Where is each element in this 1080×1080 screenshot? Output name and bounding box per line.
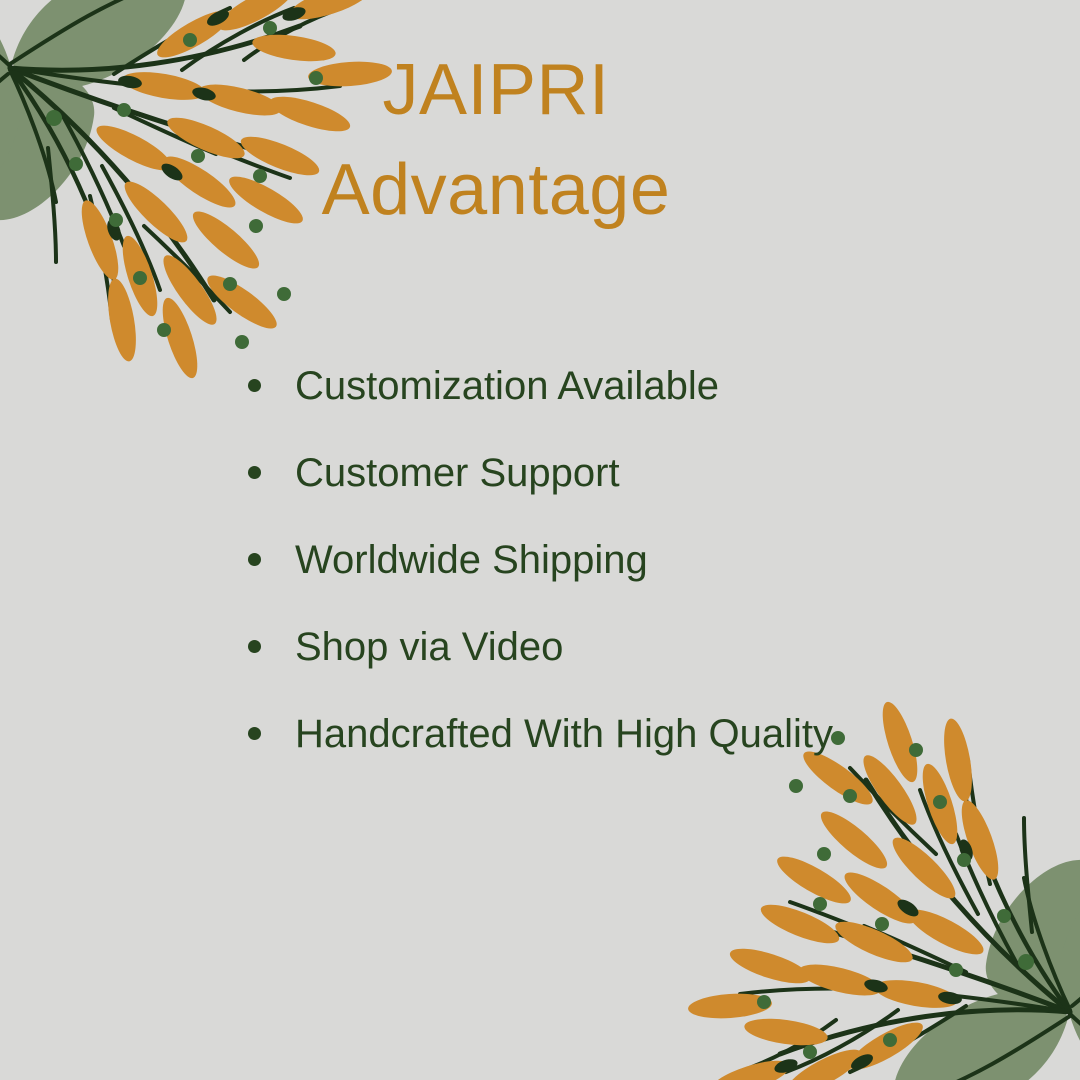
advantage-label: Customer Support xyxy=(295,450,620,496)
list-item: Handcrafted With High Quality xyxy=(248,690,1028,777)
bullet-dot-icon xyxy=(248,727,261,740)
advantage-list: Customization Available Customer Support… xyxy=(248,342,1028,777)
bullet-dot-icon xyxy=(248,379,261,392)
list-item: Shop via Video xyxy=(248,603,1028,690)
sage-leaf-group xyxy=(0,0,186,220)
advantage-label: Shop via Video xyxy=(295,624,563,670)
list-item: Customization Available xyxy=(248,342,1028,429)
bullet-dot-icon xyxy=(248,553,261,566)
title-line-brand: JAIPRI xyxy=(272,40,720,140)
bullet-dot-icon xyxy=(248,640,261,653)
advantage-label: Customization Available xyxy=(295,363,719,409)
bullet-dot-icon xyxy=(248,466,261,479)
advantage-label: Handcrafted With High Quality xyxy=(295,711,833,757)
title-line-subject: Advantage xyxy=(272,140,720,240)
berry-dots xyxy=(757,731,1034,1059)
advantage-label: Worldwide Shipping xyxy=(295,537,648,583)
list-item: Worldwide Shipping xyxy=(248,516,1028,603)
sage-leaf-group xyxy=(894,860,1080,1080)
list-item: Customer Support xyxy=(248,429,1028,516)
page-title: JAIPRI Advantage xyxy=(272,40,720,240)
poster-canvas: JAIPRI Advantage Customization Available… xyxy=(0,0,1080,1080)
